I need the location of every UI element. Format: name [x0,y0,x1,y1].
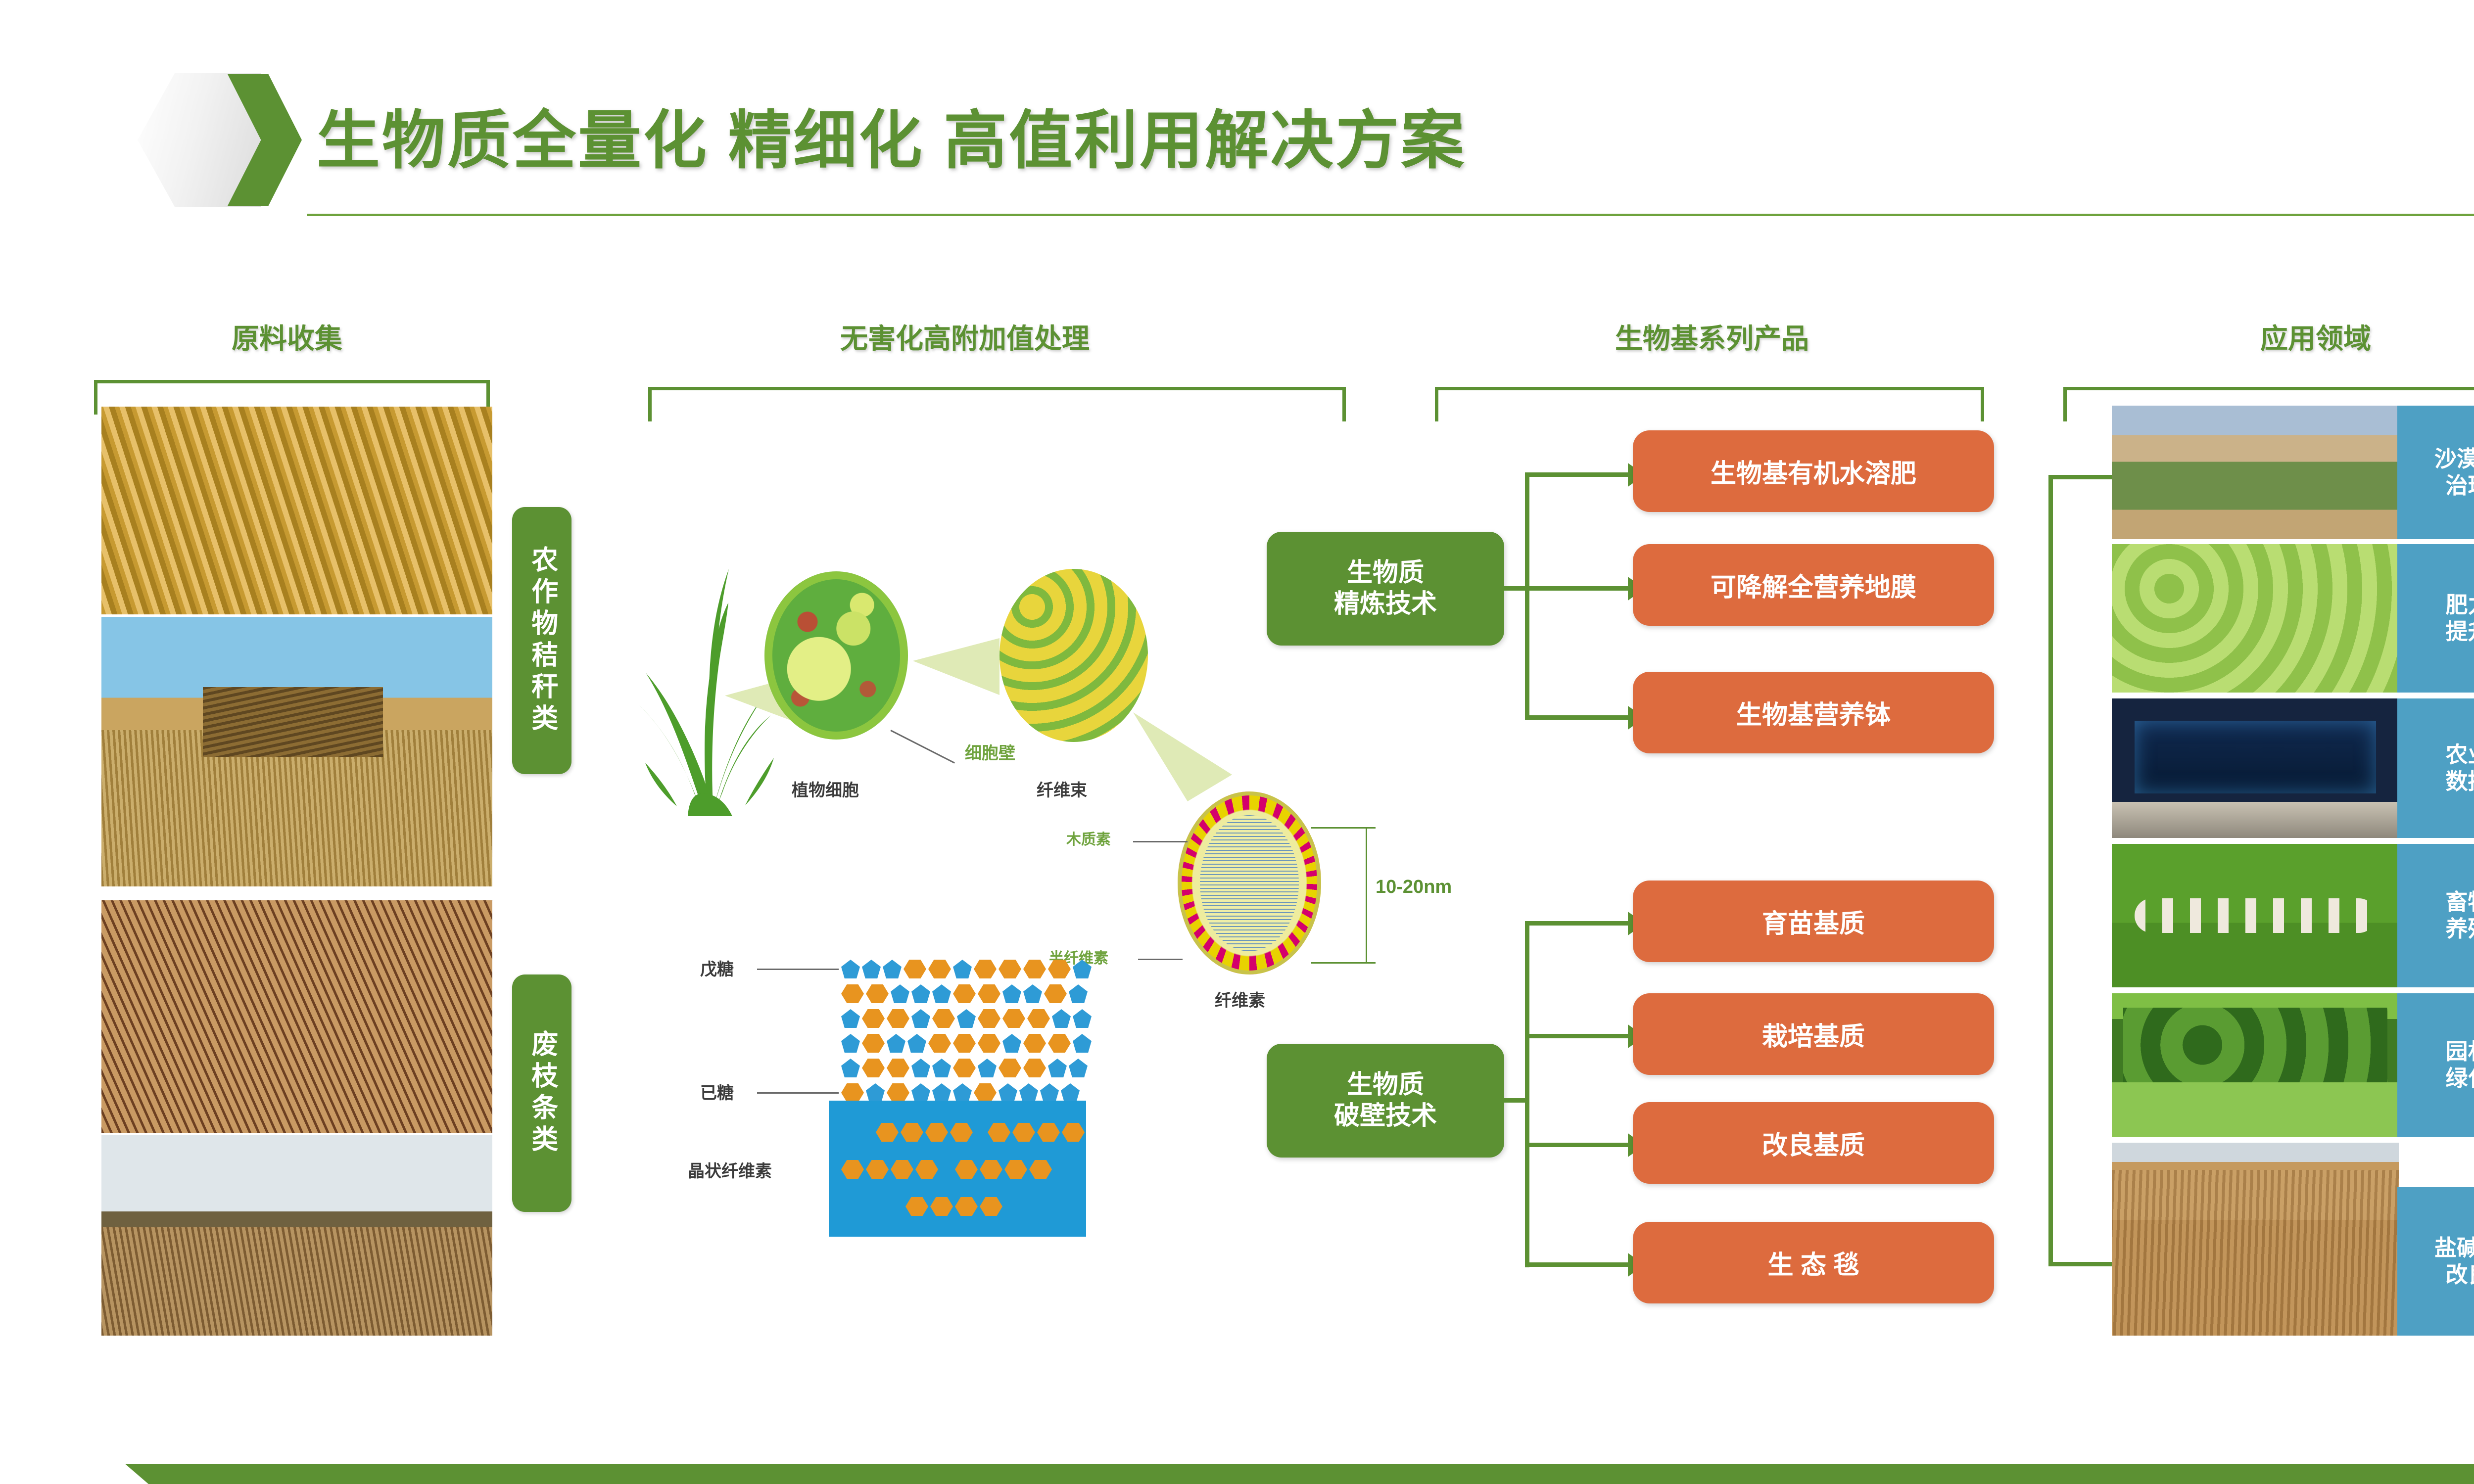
application-label-fertility-improvement[interactable]: 肥力 提升 [2397,544,2474,693]
sugar-chain-row [841,984,1088,1003]
app-label-line2: 养殖 [2445,916,2474,942]
tech-box-line2: 精炼技术 [1334,589,1437,620]
tech-box-biomass-refining[interactable]: 生物质 精炼技术 [1267,532,1504,646]
label-cellulose: 纤维素 [1215,987,1265,1011]
crystal-chain-row [905,1197,1002,1216]
sugar-chain-row [841,1009,1092,1028]
tech-box-biomass-wall-breaking[interactable]: 生物质 破壁技术 [1267,1044,1504,1158]
plant-cell-illustration [764,571,908,740]
section-title-application-fields: 应用领域 [2068,317,2474,357]
sugar-chain-row [841,1083,1080,1102]
connector-branch-refining [1525,472,1631,477]
section-title-biobased-products: 生物基系列产品 [1366,317,2058,357]
application-label-desertification-control[interactable]: 沙漠化 治理 [2397,406,2474,539]
connector-trunk-refining [1525,472,1529,720]
leader-line-lignin [1133,841,1188,842]
saline-land-photo [2112,1143,2399,1336]
cellulose-core [1200,815,1299,951]
app-label-line2: 绿化 [2445,1065,2474,1092]
app-label-line1: 盐碱地 [2434,1235,2474,1261]
zoom-beam-2 [913,638,999,695]
label-cell-wall: 细胞壁 [965,740,1015,764]
application-label-saline-land-improvement[interactable]: 盐碱地 改良 [2397,1187,2474,1336]
desert-control-photo [2112,406,2399,539]
orchard-pruning-photo [101,1135,492,1336]
app-label-line2: 提升 [2445,618,2474,645]
connector-stem-wallbreak [1504,1098,1529,1103]
app-label-line2: 改良 [2445,1261,2474,1288]
tech-box-line1: 生物质 [1347,557,1424,589]
leader-line-pentose [757,969,839,970]
connector-branch-wallbreak [1525,921,1631,926]
label-plant-cell: 植物细胞 [792,777,859,801]
product-box-organic-water-soluble-fertilizer[interactable]: 生物基有机水溶肥 [1633,430,1994,512]
leader-line-hemicellulose [1138,959,1183,960]
park-greening-photo [2112,993,2399,1137]
application-label-agriculture-data[interactable]: 农业 数据 [2397,698,2474,838]
straw-bale-field-photo [101,617,492,886]
connector-branch-wallbreak [1525,1034,1631,1038]
bracket-biobased-products [1435,387,1984,421]
fiber-bundle-illustration [999,569,1148,742]
crystal-chain-row [841,1160,1052,1179]
app-label-line2: 数据 [2445,768,2474,795]
section-title-raw-material: 原料收集 [99,317,475,357]
crystal-chain-row [876,1123,1085,1142]
label-lignin: 木质素 [1066,827,1111,849]
tag-crop-straw: 农作物秸秆类 [512,507,571,774]
dry-branches-photo [101,900,492,1133]
footer-bar [0,1464,2474,1484]
connector-branch-wallbreak [1525,1262,1631,1267]
label-hexose: 已糖 [700,1079,734,1104]
label-pentose: 戊糖 [700,956,734,980]
sugar-chain-row [841,1059,1088,1077]
tech-box-line2: 破壁技术 [1334,1101,1437,1132]
connector-branch-refining [1525,586,1631,591]
connector-stem-refining [1504,586,1529,591]
corn-stalk-field-photo [101,407,492,614]
label-dimension: 10-20nm [1376,877,1452,898]
leader-line-cell-wall [890,730,955,764]
tag-waste-branches: 废枝条类 [512,974,571,1212]
footer-decoration-white [0,1410,148,1484]
section-title-harmless-processing: 无害化高附加值处理 [495,317,1435,357]
connector-branch-refining [1525,715,1631,720]
connector-branch-wallbreak [1525,1143,1631,1147]
product-box-biodegradable-nutrient-film[interactable]: 可降解全营养地膜 [1633,544,1994,626]
agriculture-data-center-photo [2112,698,2399,838]
page-title: 生物质全量化 精细化 高值利用解决方案 [317,89,1466,181]
product-box-cultivation-substrate[interactable]: 栽培基质 [1633,993,1994,1075]
application-label-livestock-breeding[interactable]: 畜牧 养殖 [2397,844,2474,987]
app-label-line1: 农业 [2445,742,2474,768]
title-underline [307,214,2474,216]
tech-box-line1: 生物质 [1347,1069,1424,1101]
app-label-line1: 沙漠化 [2434,446,2474,472]
label-crystalline-cellulose: 晶状纤维素 [688,1158,772,1182]
sugar-chain-row [841,1034,1092,1053]
cabbage-field-photo [2112,544,2399,693]
app-label-line1: 肥力 [2445,592,2474,618]
application-bracket [2048,475,2113,1266]
product-box-seedling-substrate[interactable]: 育苗基质 [1633,881,1994,962]
sheep-grazing-photo [2112,844,2399,987]
product-box-improvement-substrate[interactable]: 改良基质 [1633,1102,1994,1184]
leader-line-hexose [757,1092,839,1094]
zoom-beam-3 [1133,712,1232,801]
bracket-harmless-processing [648,387,1346,421]
app-label-line2: 治理 [2445,472,2474,499]
label-fiber-bundle: 纤维束 [1037,777,1087,801]
application-label-landscape-greening[interactable]: 园林 绿化 [2397,993,2474,1137]
product-box-biobased-nutrient-pot[interactable]: 生物基营养钵 [1633,672,1994,753]
dimension-line [1366,827,1367,964]
product-box-ecological-blanket[interactable]: 生 态 毯 [1633,1222,1994,1303]
app-label-line1: 园林 [2445,1038,2474,1065]
sugar-chain-row [841,960,1092,978]
connector-trunk-wallbreak [1525,921,1529,1267]
app-label-line1: 畜牧 [2445,889,2474,916]
